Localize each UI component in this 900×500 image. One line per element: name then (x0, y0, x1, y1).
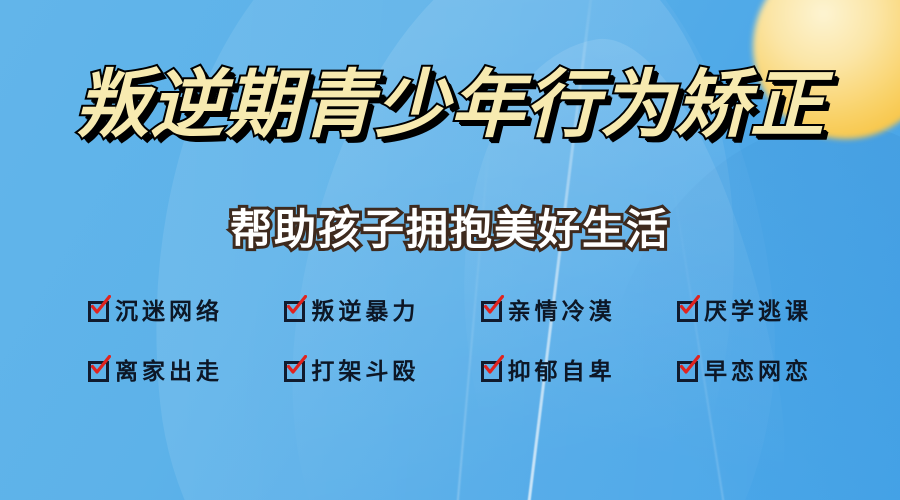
list-item: 早恋网恋 (677, 352, 812, 386)
checked-checkbox-icon (677, 299, 698, 320)
title-container: 叛逆期青少年行为矫正 (0, 66, 900, 144)
list-item-label: 厌学逃课 (704, 292, 812, 326)
checked-checkbox-icon (677, 359, 698, 380)
list-item: 叛逆暴力 (284, 292, 419, 326)
page-title: 叛逆期青少年行为矫正 (75, 66, 825, 144)
list-item-label: 离家出走 (115, 352, 223, 386)
checked-checkbox-icon (481, 359, 502, 380)
checked-checkbox-icon (481, 299, 502, 320)
list-item-label: 抑郁自卑 (508, 352, 616, 386)
list-item: 厌学逃课 (677, 292, 812, 326)
list-item: 抑郁自卑 (481, 352, 616, 386)
checked-checkbox-icon (88, 299, 109, 320)
checked-checkbox-icon (88, 359, 109, 380)
list-item-label: 沉迷网络 (115, 292, 223, 326)
checklist-row: 离家出走 打架斗殴 抑郁自卑 (88, 352, 812, 386)
list-item-label: 打架斗殴 (311, 352, 419, 386)
checked-checkbox-icon (284, 299, 305, 320)
subtitle-container: 帮助孩子拥抱美好生活 (0, 196, 900, 257)
list-item: 打架斗殴 (284, 352, 419, 386)
checked-checkbox-icon (284, 359, 305, 380)
list-item-label: 叛逆暴力 (311, 292, 419, 326)
list-item: 亲情冷漠 (481, 292, 616, 326)
list-item: 离家出走 (88, 352, 223, 386)
list-item-label: 早恋网恋 (704, 352, 812, 386)
list-item: 沉迷网络 (88, 292, 223, 326)
list-item-label: 亲情冷漠 (508, 292, 616, 326)
page-subtitle: 帮助孩子拥抱美好生活 (230, 196, 670, 257)
checklist-row: 沉迷网络 叛逆暴力 亲情冷漠 (88, 292, 812, 326)
checklist: 沉迷网络 叛逆暴力 亲情冷漠 (88, 292, 812, 412)
promo-banner: 叛逆期青少年行为矫正 帮助孩子拥抱美好生活 沉迷网络 (0, 0, 900, 500)
